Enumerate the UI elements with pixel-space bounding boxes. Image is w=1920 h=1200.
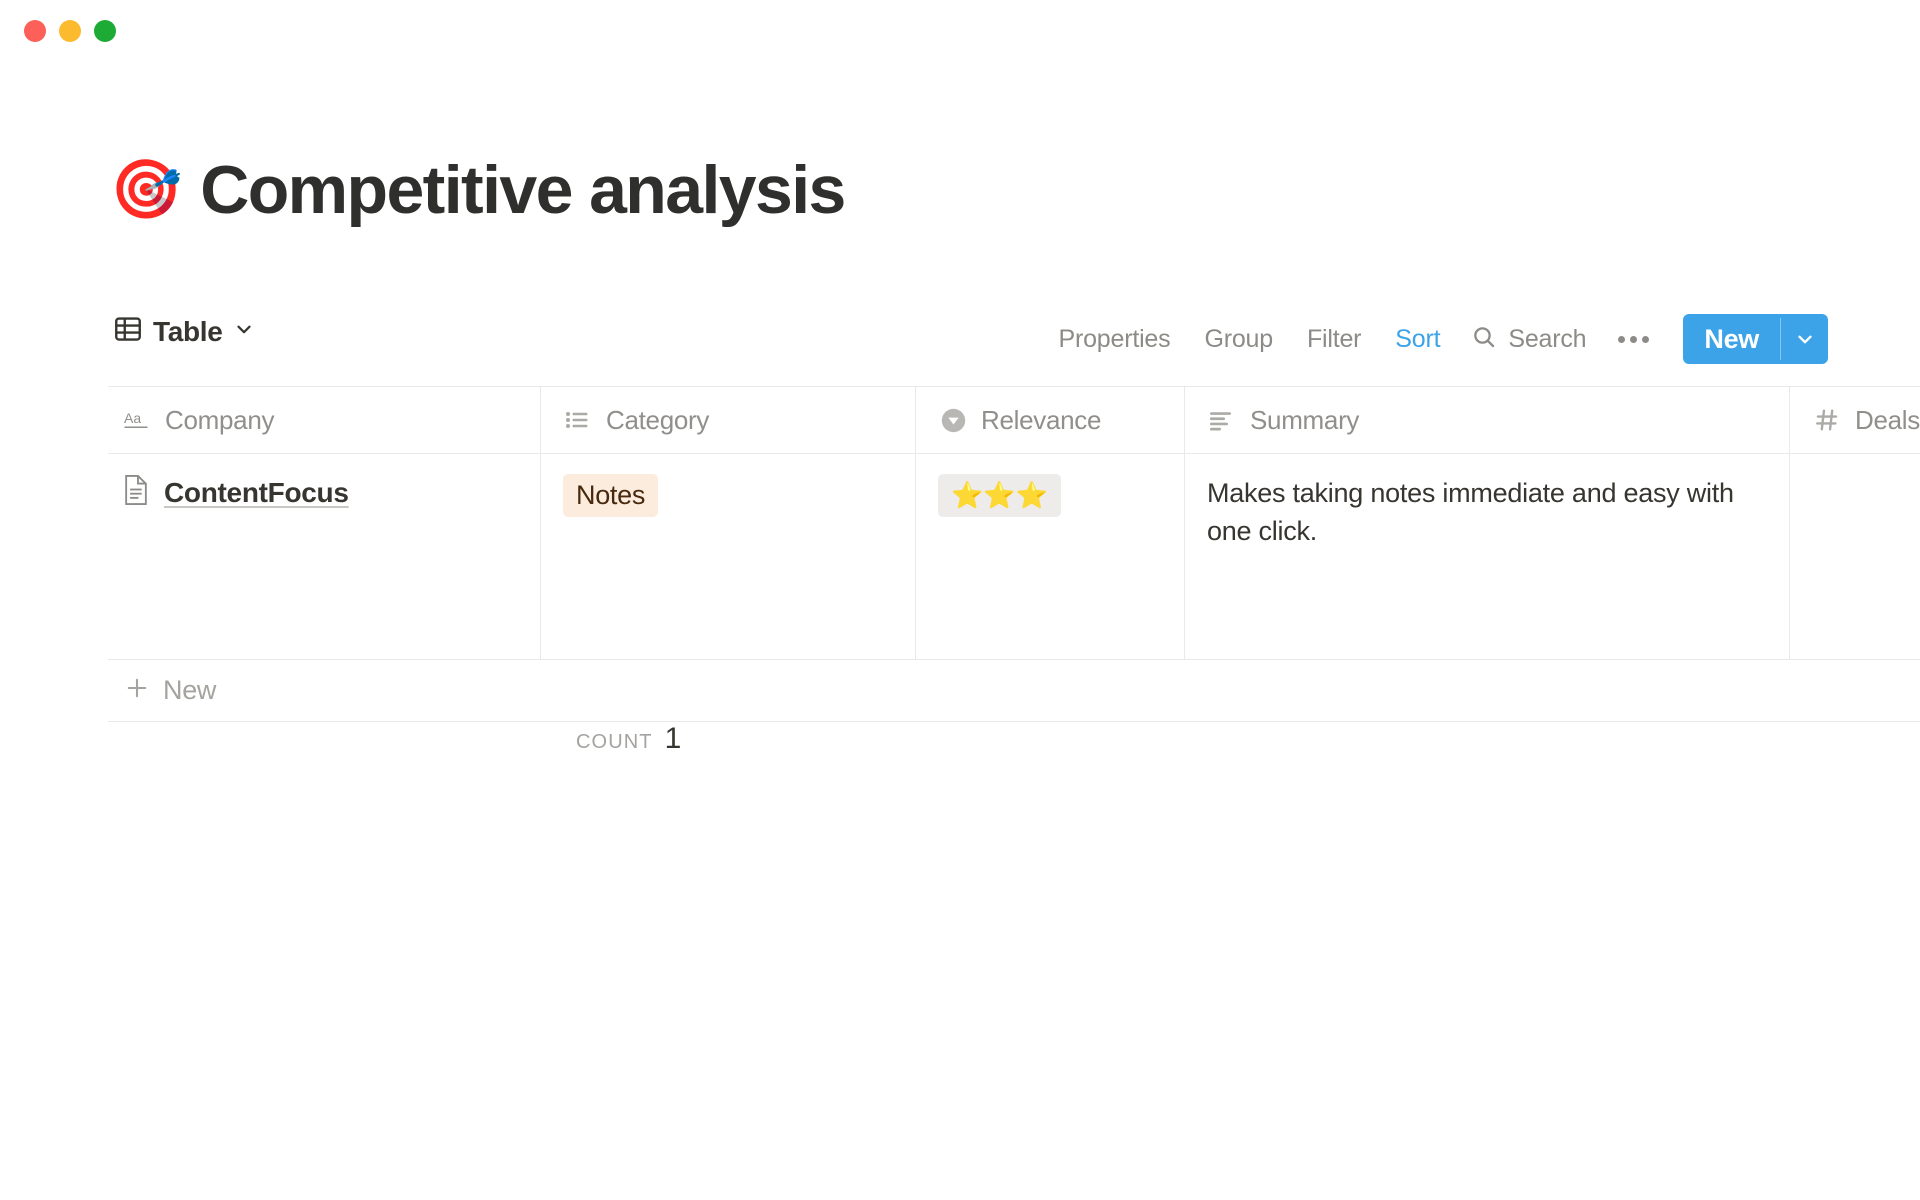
cell-deals[interactable] [1790,454,1920,659]
multi-select-icon [563,409,593,431]
add-new-row-label: New [163,675,216,706]
table-header-row: Aa Company Category [108,386,1920,454]
count-aggregate[interactable]: Count 1 [541,722,681,756]
column-header-label: Deals [1855,405,1920,436]
relevance-tag[interactable]: ⭐⭐⭐ [938,474,1061,517]
column-header-summary[interactable]: Summary [1185,387,1790,453]
column-header-deals[interactable]: Deals [1790,387,1920,453]
database-table: Aa Company Category [108,386,1920,792]
cell-relevance[interactable]: ⭐⭐⭐ [916,454,1185,659]
row-title-link[interactable]: ContentFocus [164,477,349,509]
number-hash-icon [1812,407,1842,433]
window-minimize-button[interactable] [59,20,81,42]
window-titlebar [0,0,1920,62]
document-icon [122,474,150,511]
text-aa-icon: Aa [122,409,152,431]
dot-2-icon [1630,336,1637,343]
more-options-button[interactable] [1600,330,1667,349]
new-button-dropdown[interactable] [1781,314,1828,364]
page-emoji-icon[interactable]: 🎯 [110,161,182,219]
view-switcher-label: Table [153,316,223,348]
properties-button[interactable]: Properties [1042,319,1188,360]
search-label: Search [1508,325,1586,354]
plus-icon [124,675,150,706]
table-row: ContentFocus Notes ⭐⭐⭐ Makes taking note… [108,454,1920,660]
table-footer: Count 1 [108,722,1920,792]
view-toolbar: Table Properties Group Filter Sort Searc… [0,308,1920,370]
add-new-row-button[interactable]: New [108,660,1920,722]
cell-category[interactable]: Notes [541,454,916,659]
new-button-group[interactable]: New [1683,314,1828,364]
view-switcher-table[interactable]: Table [113,314,255,349]
column-header-relevance[interactable]: Relevance [916,387,1185,453]
column-header-label: Company [165,405,274,436]
column-header-label: Summary [1250,405,1359,436]
cell-company[interactable]: ContentFocus [108,454,541,659]
select-icon [938,407,968,434]
column-header-category[interactable]: Category [541,387,916,453]
sort-button[interactable]: Sort [1378,319,1457,360]
filter-button[interactable]: Filter [1290,319,1378,360]
summary-text: Makes taking notes immediate and easy wi… [1207,474,1767,551]
cell-summary[interactable]: Makes taking notes immediate and easy wi… [1185,454,1790,659]
page-header: 🎯 Competitive analysis [110,156,845,224]
chevron-down-icon [233,318,255,345]
svg-text:Aa: Aa [124,410,141,426]
dot-3-icon [1642,336,1649,343]
search-button[interactable]: Search [1457,318,1600,361]
column-header-label: Category [606,405,709,436]
column-header-company[interactable]: Aa Company [108,387,541,453]
count-label: Count [576,731,653,754]
window-maximize-button[interactable] [94,20,116,42]
new-button[interactable]: New [1683,314,1780,364]
page-title[interactable]: Competitive analysis [200,156,844,224]
table-icon [113,314,143,349]
count-value: 1 [665,722,681,756]
toolbar-actions: Properties Group Filter Sort Search New [1042,308,1829,370]
text-lines-icon [1207,409,1237,431]
search-icon [1471,324,1497,355]
column-header-label: Relevance [981,405,1101,436]
dot-1-icon [1618,336,1625,343]
category-tag[interactable]: Notes [563,474,658,517]
group-button[interactable]: Group [1187,319,1289,360]
window-close-button[interactable] [24,20,46,42]
